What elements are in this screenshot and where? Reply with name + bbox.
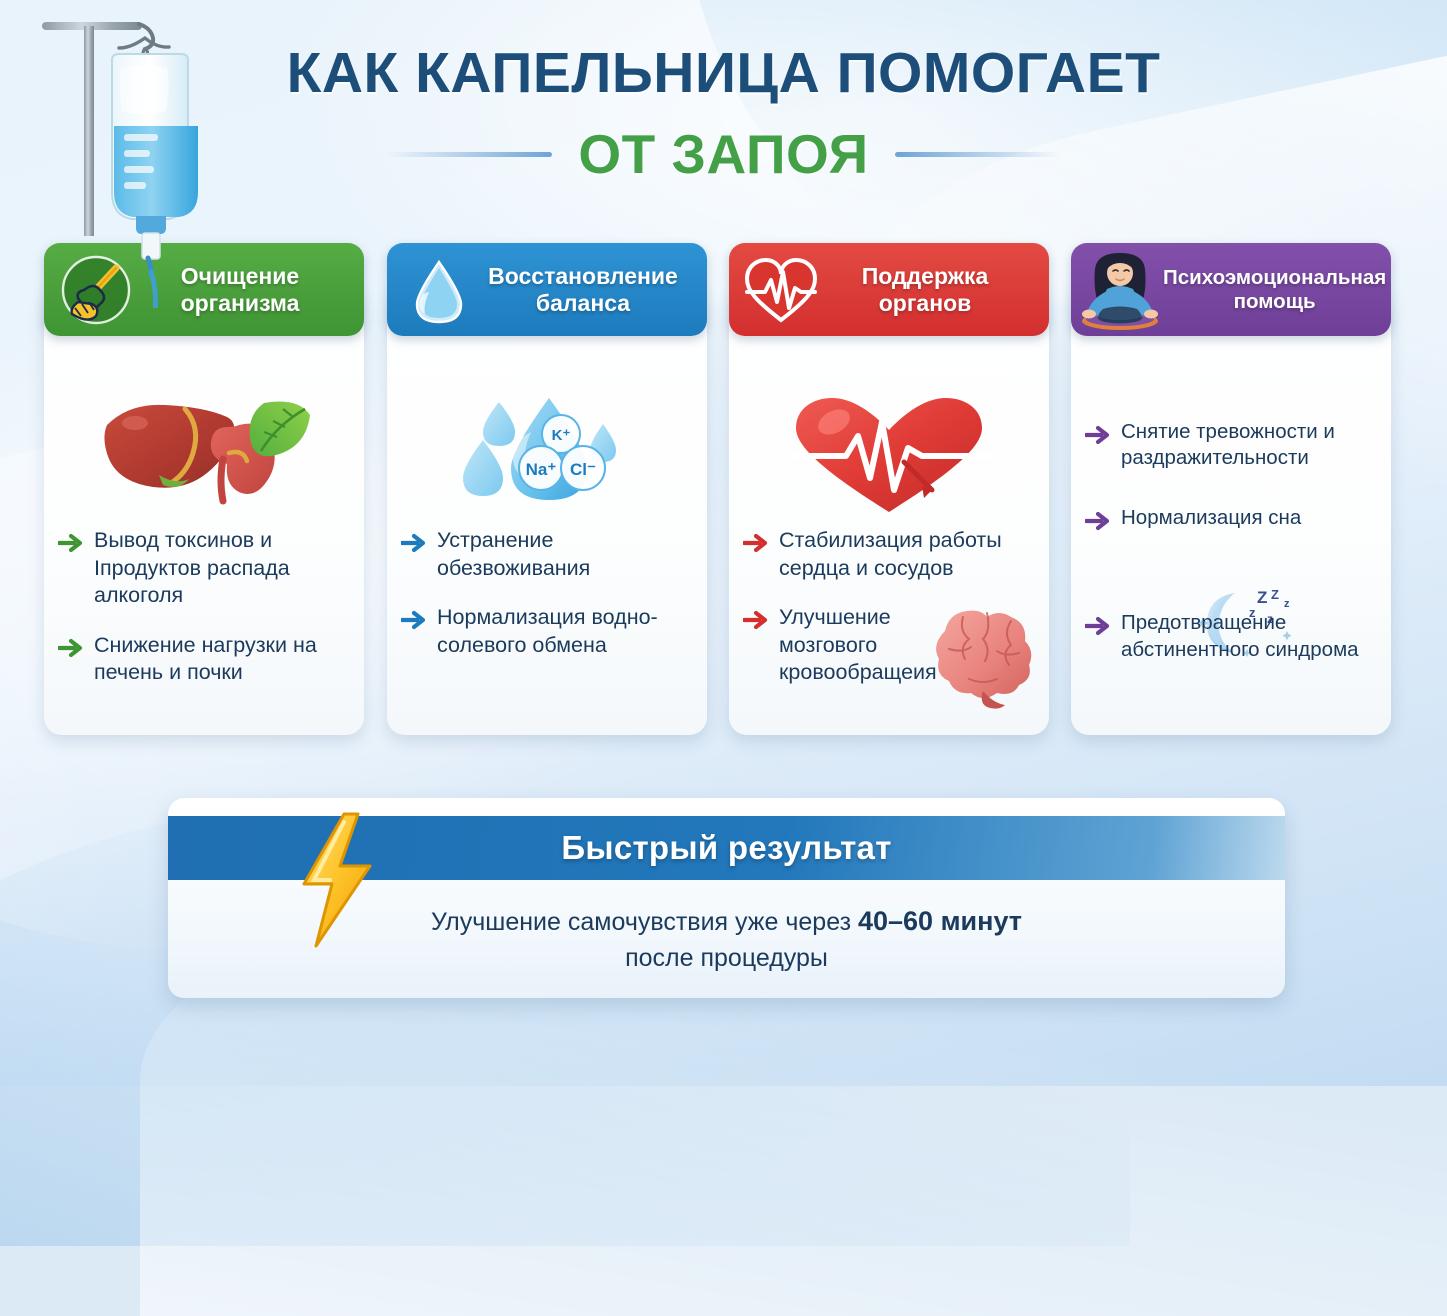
iv-drip-icon	[26, 8, 241, 308]
card-body: Вывод токсинов и Iпродуктов распада алко…	[44, 287, 364, 735]
banner-line1-prefix: Улучшение самочувствия уже через	[431, 908, 858, 936]
list-item-label: Устранение обезвоживания	[437, 527, 695, 582]
title-divider-right	[895, 152, 1060, 157]
arrow-right-icon	[58, 532, 84, 554]
page-title-sub: ОТ ЗАПОЯ	[578, 122, 868, 186]
card-psycho[interactable]: Z Z z z z	[1071, 243, 1391, 735]
liver-kidney-leaf-illustration	[44, 379, 364, 524]
list-item: Улучшение мозгового кровообращеия	[743, 604, 1037, 687]
arrow-right-icon	[58, 637, 84, 659]
heart-with-ecg-illustration	[729, 385, 1049, 530]
card-title: Психоэмоциональная помощь	[1163, 266, 1392, 314]
card-title-line2: органов	[879, 290, 972, 316]
card-organs[interactable]: Стабилизация работы сердца и сосудов Улу…	[729, 243, 1049, 735]
arrow-right-icon	[743, 609, 769, 631]
water-drops-electrolytes-illustration: K⁺ Na⁺ Cl⁻	[387, 385, 707, 530]
meditating-woman-icon	[1077, 247, 1163, 333]
card-bullet-list: Снятие тревожности и раздражительности Н…	[1085, 419, 1379, 697]
card-title-line1: Поддержка	[862, 263, 989, 289]
list-item: Вывод токсинов и Iпродуктов распада алко…	[58, 527, 352, 610]
banner-duration-highlight: 40–60 минут	[858, 906, 1022, 936]
heart-pulse-icon	[743, 252, 819, 328]
list-item-label: Нормализация сна	[1121, 505, 1301, 532]
svg-text:Cl⁻: Cl⁻	[570, 460, 596, 479]
list-item-label: Улучшение мозгового кровообращеия	[779, 604, 954, 687]
card-bullet-list: Стабилизация работы сердца и сосудов Улу…	[743, 527, 1037, 709]
list-item: Снятие тревожности и раздражительности	[1085, 419, 1379, 471]
arrow-right-icon	[1085, 424, 1111, 446]
card-bullet-list: Вывод токсинов и Iпродуктов распада алко…	[58, 527, 352, 709]
benefit-cards-row: Вывод токсинов и Iпродуктов распада алко…	[0, 243, 1447, 738]
svg-text:Na⁺: Na⁺	[526, 460, 557, 479]
card-body: Z Z z z z	[1071, 287, 1391, 735]
list-item-label: Вывод токсинов и Iпродуктов распада алко…	[94, 527, 352, 610]
list-item: Нормализация водно-солевого обмена	[401, 604, 695, 659]
card-title-line2: баланса	[536, 290, 630, 316]
card-header: Поддержка органов	[729, 243, 1049, 336]
water-drop-icon	[401, 252, 477, 328]
lightning-bolt-icon	[294, 810, 380, 950]
card-title-line2: помощь	[1234, 290, 1316, 313]
card-cleansing[interactable]: Вывод токсинов и Iпродуктов распада алко…	[44, 243, 364, 735]
card-bullet-list: Устранение обезвоживания Нормализация во…	[401, 527, 695, 681]
list-item: Стабилизация работы сердца и сосудов	[743, 527, 1037, 582]
list-item: Нормализация сна	[1085, 505, 1379, 532]
title-divider-left	[387, 152, 552, 157]
arrow-right-icon	[1085, 510, 1111, 532]
list-item: Предотвращение абстинентного синдрома	[1085, 610, 1379, 662]
arrow-right-icon	[401, 532, 427, 554]
fast-result-banner: Быстрый результат Улучшение самочувствия…	[168, 798, 1285, 998]
list-item-label: Нормализация водно-солевого обмена	[437, 604, 695, 659]
arrow-right-icon	[1085, 615, 1111, 637]
arrow-right-icon	[743, 532, 769, 554]
list-item: Снижение нагрузки на печень и почки	[58, 632, 352, 687]
card-balance[interactable]: K⁺ Na⁺ Cl⁻ Устранение обезвожив	[387, 243, 707, 735]
card-body: Стабилизация работы сердца и сосудов Улу…	[729, 287, 1049, 735]
list-item-label: Снижение нагрузки на печень и почки	[94, 632, 352, 687]
list-item: Устранение обезвоживания	[401, 527, 695, 582]
card-title-line1: Восстановление	[488, 263, 678, 289]
list-item-label: Снятие тревожности и раздражительности	[1121, 419, 1379, 471]
infographic-poster: КАК КАПЕЛЬНИЦА ПОМОГАЕТ ОТ ЗАПОЯ	[0, 0, 1447, 1086]
svg-text:K⁺: K⁺	[552, 427, 571, 444]
card-title-line1: Психоэмоциональная	[1163, 266, 1386, 289]
banner-title: Быстрый результат	[561, 829, 891, 867]
card-body: K⁺ Na⁺ Cl⁻ Устранение обезвожив	[387, 287, 707, 735]
list-item-label: Стабилизация работы сердца и сосудов	[779, 527, 1037, 582]
card-title: Восстановление баланса	[477, 263, 695, 316]
card-header: Восстановление баланса	[387, 243, 707, 336]
card-header: Психоэмоциональная помощь	[1071, 243, 1391, 336]
arrow-right-icon	[401, 609, 427, 631]
card-title: Поддержка органов	[819, 263, 1037, 316]
list-item-label: Предотвращение абстинентного синдрома	[1121, 610, 1379, 662]
